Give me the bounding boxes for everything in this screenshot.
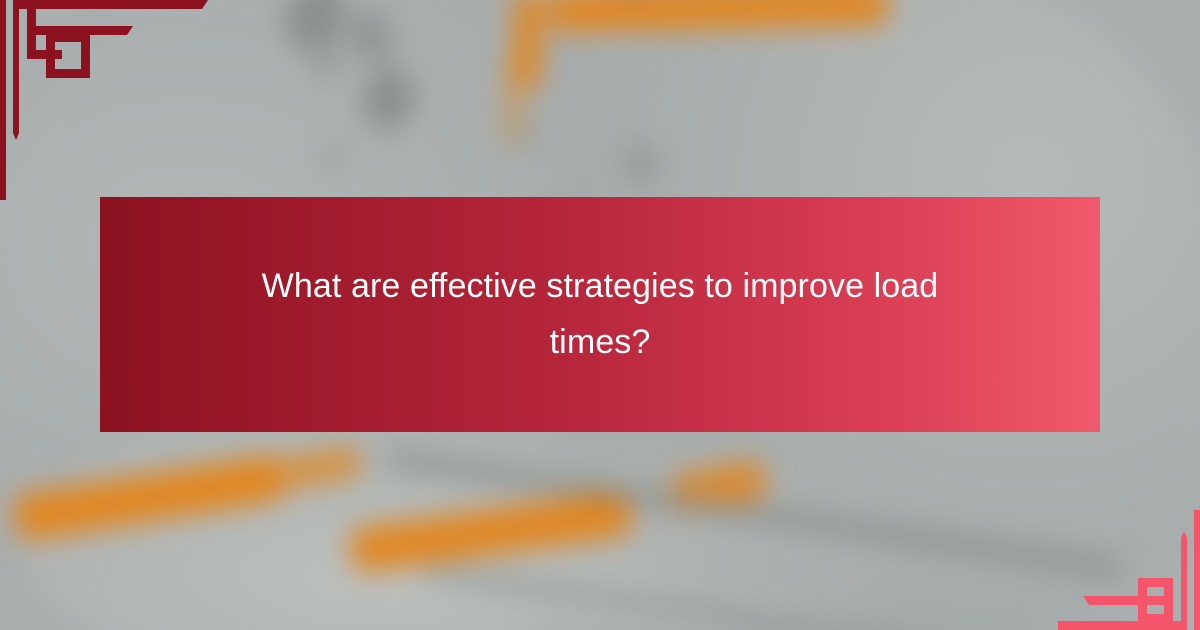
blur-smudge-7 [626, 145, 657, 182]
blur-smudge-5 [321, 145, 344, 173]
blur-smudge-4 [312, 45, 340, 81]
question-card: What are effective strategies to improve… [0, 0, 1200, 630]
question-text: What are effective strategies to improve… [210, 259, 990, 369]
question-banner: What are effective strategies to improve… [100, 197, 1100, 432]
